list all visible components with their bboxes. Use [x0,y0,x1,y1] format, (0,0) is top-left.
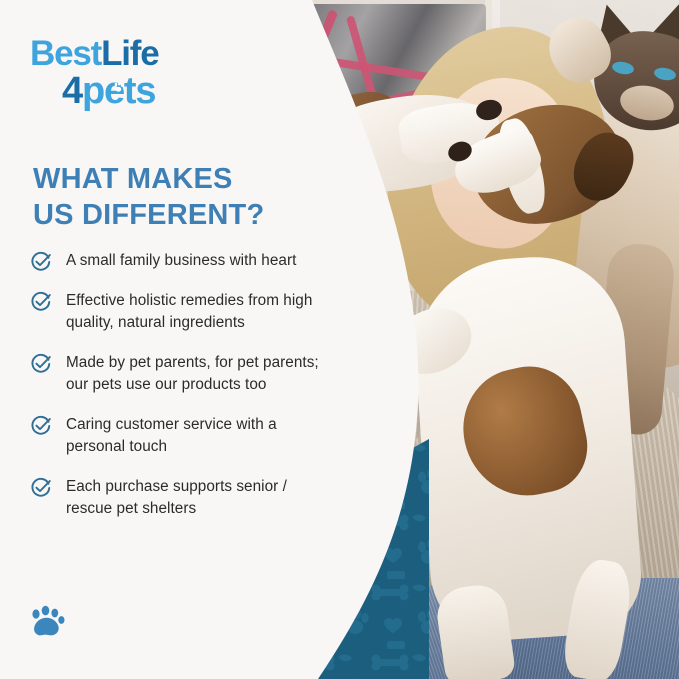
benefits-list: A small family business with heart Effec… [30,250,332,538]
benefit-text: Caring customer service with a personal … [66,414,332,459]
list-item: Caring customer service with a personal … [30,414,332,459]
logo-word-life: Life [101,34,158,73]
logo-paw-print-icon [112,81,125,93]
logo-line-two: 4pets [62,72,210,110]
check-circle-icon [30,415,52,437]
logo-word-four: 4 [62,70,82,112]
benefit-text: Made by pet parents, for pet parents; ou… [66,352,332,397]
check-circle-icon [30,477,52,499]
list-item: Each purchase supports senior / rescue p… [30,476,332,521]
list-item: A small family business with heart [30,250,332,273]
logo-word-best: Best [30,34,101,73]
check-circle-icon [30,353,52,375]
list-item: Made by pet parents, for pet parents; ou… [30,352,332,397]
brand-logo[interactable]: BestLife 4pets [30,36,210,110]
page-title: WHAT MAKES US DIFFERENT? [33,162,313,233]
logo-line-one: BestLife [30,36,210,71]
headline-line-one: WHAT MAKES [33,163,233,195]
check-circle-icon [30,291,52,313]
check-circle-icon [30,251,52,273]
benefit-text: Effective holistic remedies from high qu… [66,290,332,335]
benefit-text: A small family business with heart [66,250,296,272]
advertisement-card: BestLife 4pets WHAT MAKES US DIFFERENT? [0,0,679,679]
footer-paw-print-icon [27,604,67,642]
benefit-text: Each purchase supports senior / rescue p… [66,476,332,521]
list-item: Effective holistic remedies from high qu… [30,290,332,335]
headline-line-two: US DIFFERENT? [33,199,264,231]
content-column: BestLife 4pets WHAT MAKES US DIFFERENT? [0,0,330,679]
